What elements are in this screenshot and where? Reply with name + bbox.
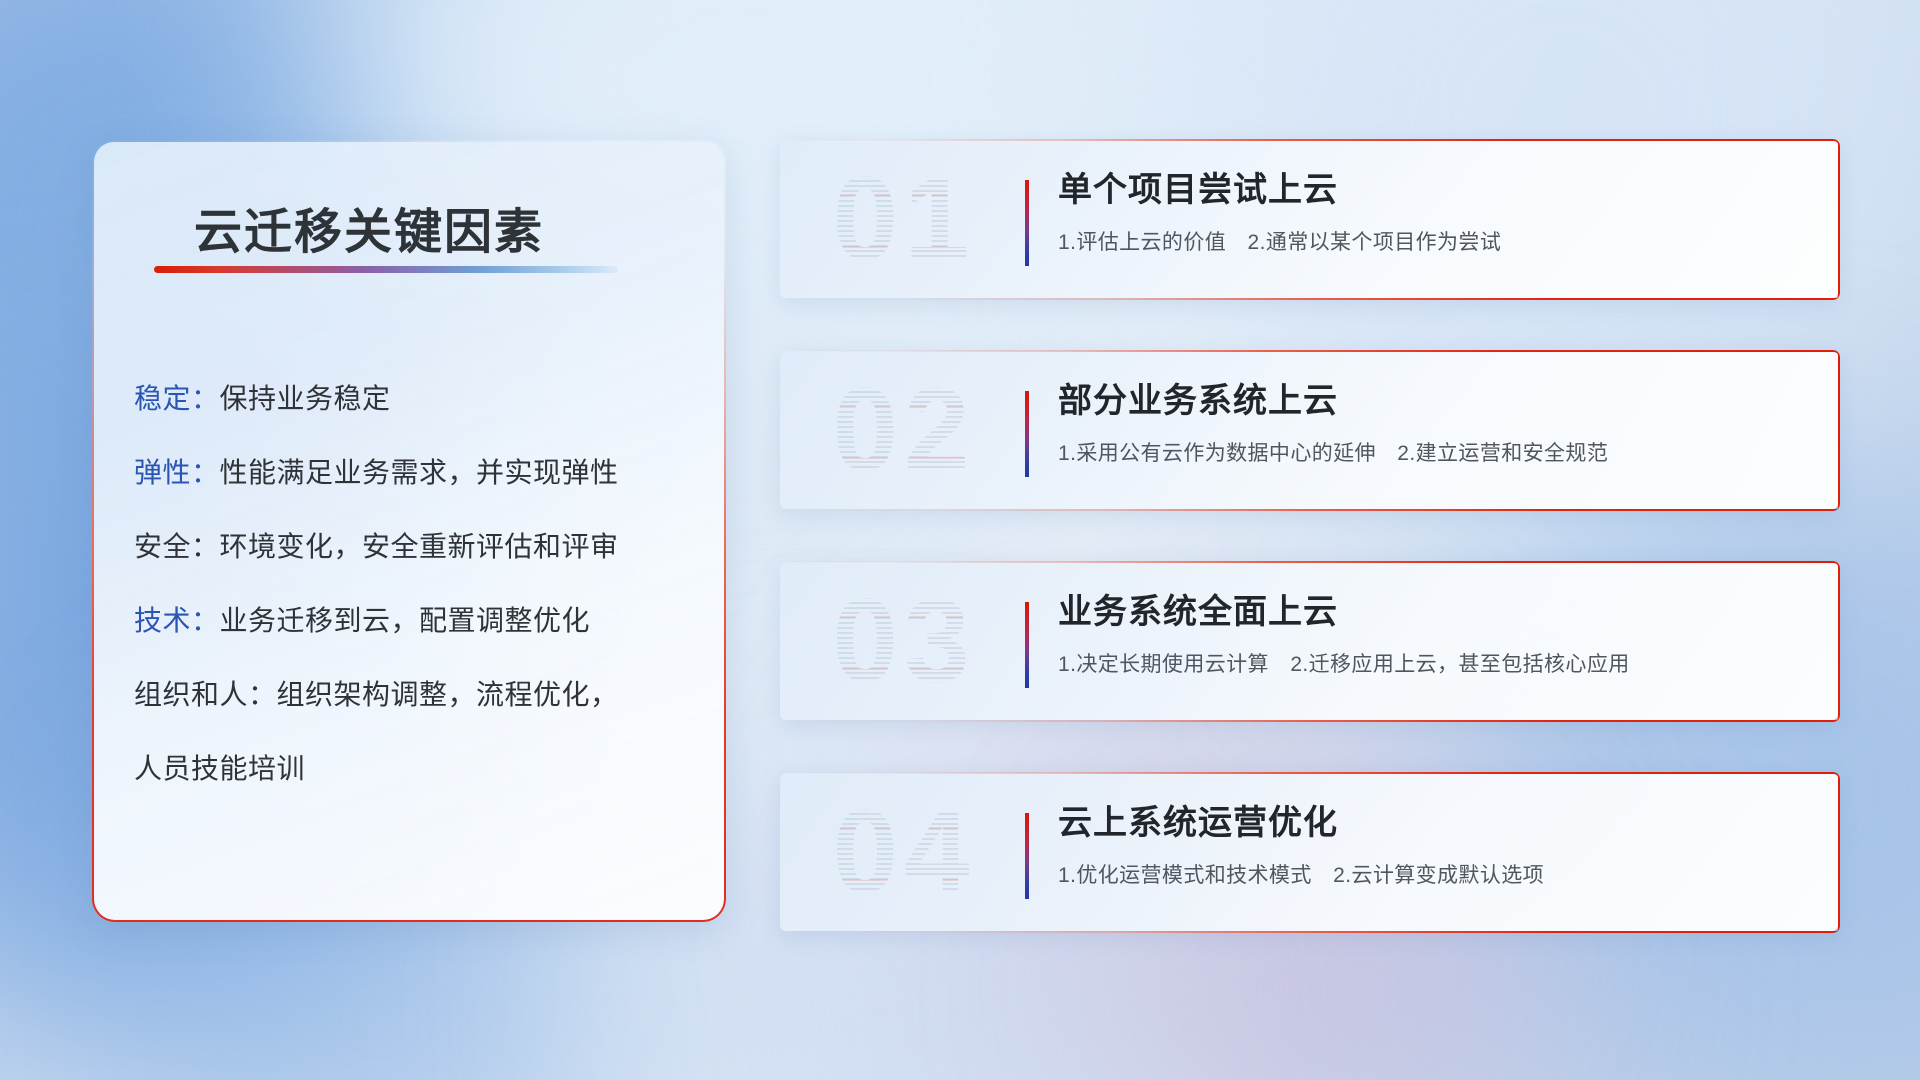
card-subtitle: 1.采用公有云作为数据中心的延伸 2.建立运营和安全规范 xyxy=(1058,439,1808,469)
card-divider-accent xyxy=(1025,391,1029,477)
title-underline-accent xyxy=(154,266,618,273)
card-title: 业务系统全面上云 xyxy=(1058,588,1808,636)
factor-row: 组织和人：组织架构调整，流程优化， xyxy=(134,658,694,732)
factor-label: 技术： xyxy=(134,605,220,636)
card-title: 部分业务系统上云 xyxy=(1058,377,1808,425)
factor-row: 安全：环境变化，安全重新评估和评审 xyxy=(134,510,694,584)
factor-text: 组织架构调整，流程优化， xyxy=(277,679,619,710)
factor-text: 业务迁移到云，配置调整优化 xyxy=(220,605,591,636)
stage-number-accent-overlay: 03 xyxy=(804,572,1004,710)
page-title: 云迁移关键因素 xyxy=(194,192,544,262)
card-subtitle: 1.优化运营模式和技术模式 2.云计算变成默认选项 xyxy=(1058,861,1808,891)
card-body: 部分业务系统上云1.采用公有云作为数据中心的延伸 2.建立运营和安全规范 xyxy=(1058,377,1808,469)
factor-row: 技术：业务迁移到云，配置调整优化 xyxy=(134,584,694,658)
factor-label: 稳定： xyxy=(134,383,220,414)
factor-text: 性能满足业务需求，并实现弹性 xyxy=(220,457,619,488)
card-divider-accent xyxy=(1025,180,1029,266)
card-body: 业务系统全面上云1.决定长期使用云计算 2.迁移应用上云，甚至包括核心应用 xyxy=(1058,588,1808,680)
card-subtitle: 1.评估上云的价值 2.通常以某个项目作为尝试 xyxy=(1058,228,1808,258)
stage-card[interactable]: 0404云上系统运营优化1.优化运营模式和技术模式 2.云计算变成默认选项 xyxy=(780,773,1838,931)
factor-row: 弹性：性能满足业务需求，并实现弹性 xyxy=(134,436,694,510)
factor-label: 安全： xyxy=(134,531,220,562)
card-title: 单个项目尝试上云 xyxy=(1058,166,1808,214)
maturity-stage-card-list: 0101单个项目尝试上云1.评估上云的价值 2.通常以某个项目作为尝试0202部… xyxy=(780,140,1838,931)
card-body: 单个项目尝试上云1.评估上云的价值 2.通常以某个项目作为尝试 xyxy=(1058,166,1808,258)
factor-text: 保持业务稳定 xyxy=(220,383,391,414)
card-divider-accent xyxy=(1025,813,1029,899)
stage-number-accent-overlay: 01 xyxy=(804,150,1004,288)
stage-number-accent-overlay: 02 xyxy=(804,361,1004,499)
factor-text: 环境变化，安全重新评估和评审 xyxy=(220,531,619,562)
factor-row: 人员技能培训 xyxy=(134,732,694,806)
stage-card[interactable]: 0303业务系统全面上云1.决定长期使用云计算 2.迁移应用上云，甚至包括核心应… xyxy=(780,562,1838,720)
card-title: 云上系统运营优化 xyxy=(1058,799,1808,847)
key-factors-panel: 云迁移关键因素 稳定：保持业务稳定弹性：性能满足业务需求，并实现弹性安全：环境变… xyxy=(92,140,726,922)
card-subtitle: 1.决定长期使用云计算 2.迁移应用上云，甚至包括核心应用 xyxy=(1058,650,1808,680)
factor-label: 弹性： xyxy=(134,457,220,488)
card-body: 云上系统运营优化1.优化运营模式和技术模式 2.云计算变成默认选项 xyxy=(1058,799,1808,891)
factor-row: 稳定：保持业务稳定 xyxy=(134,362,694,436)
factor-text: 人员技能培训 xyxy=(134,753,305,784)
stage-number-accent-overlay: 04 xyxy=(804,783,1004,921)
stage-card[interactable]: 0101单个项目尝试上云1.评估上云的价值 2.通常以某个项目作为尝试 xyxy=(780,140,1838,298)
factor-list: 稳定：保持业务稳定弹性：性能满足业务需求，并实现弹性安全：环境变化，安全重新评估… xyxy=(134,362,694,806)
stage-card[interactable]: 0202部分业务系统上云1.采用公有云作为数据中心的延伸 2.建立运营和安全规范 xyxy=(780,351,1838,509)
card-divider-accent xyxy=(1025,602,1029,688)
factor-label: 组织和人： xyxy=(134,679,277,710)
